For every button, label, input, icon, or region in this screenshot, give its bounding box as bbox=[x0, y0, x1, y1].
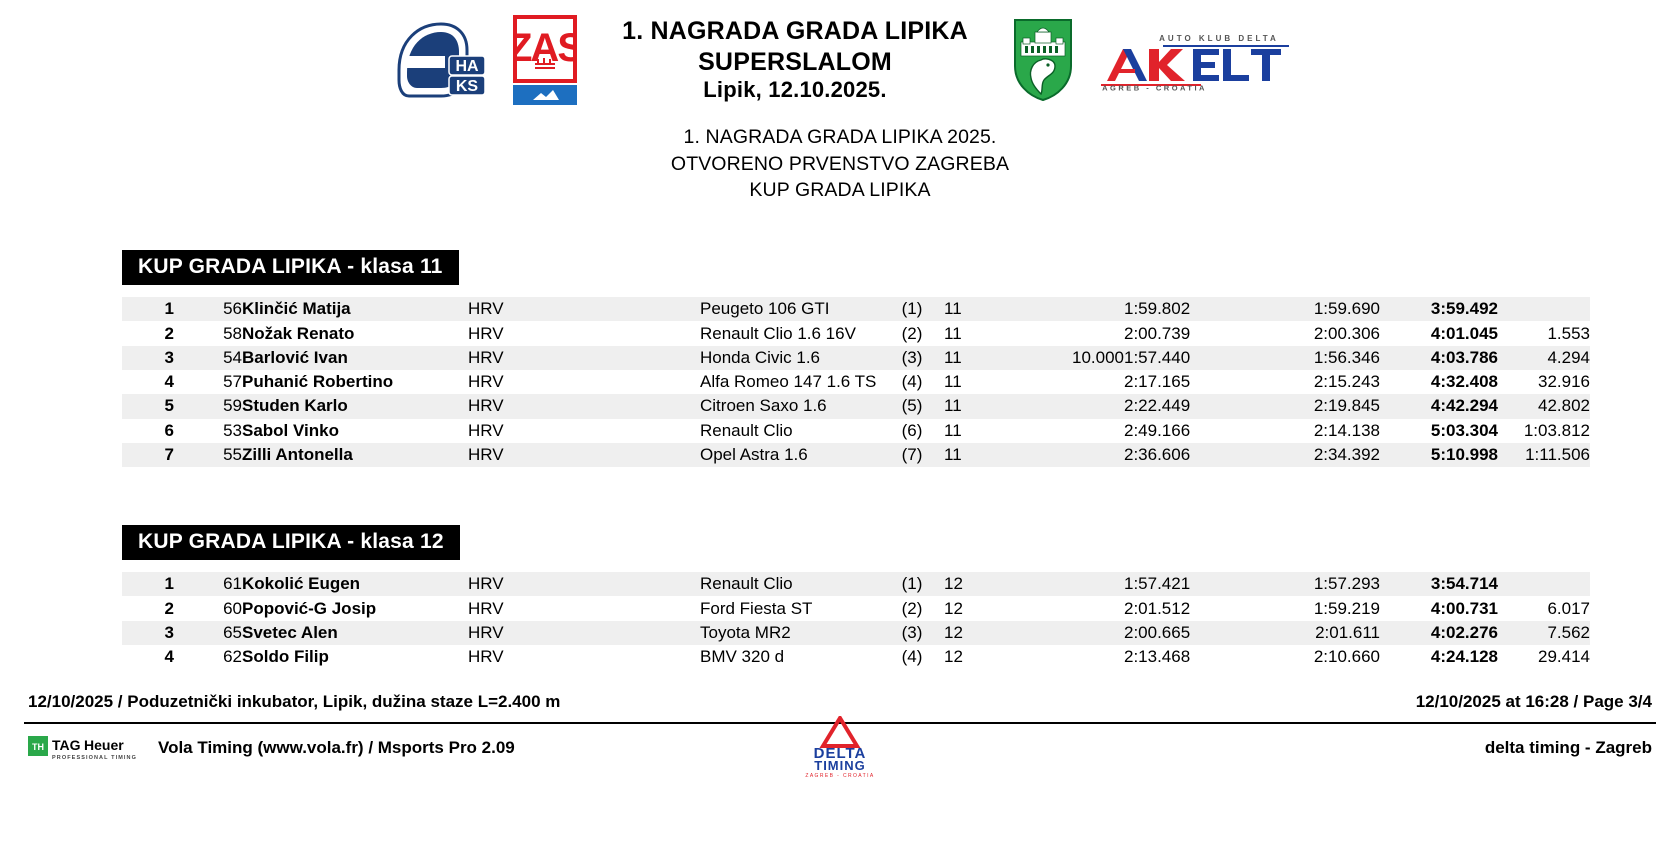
cell-nationality: HRV bbox=[468, 346, 700, 370]
cell-nationality: HRV bbox=[468, 596, 700, 620]
cell-total: 4:03.786 bbox=[1380, 346, 1498, 370]
cell-run2: 2:15.243 bbox=[1276, 370, 1380, 394]
cell-total: 3:54.714 bbox=[1380, 572, 1498, 596]
cell-number: 62 bbox=[174, 645, 242, 669]
cell-rank: 2 bbox=[122, 596, 174, 620]
title-line-1: 1. NAGRADA GRADA LIPIKA bbox=[617, 16, 973, 47]
cell-car: Renault Clio bbox=[700, 419, 880, 443]
cell-total: 4:42.294 bbox=[1380, 394, 1498, 418]
cell-group: (2) bbox=[880, 596, 944, 620]
cell-car: Renault Clio bbox=[700, 572, 880, 596]
cell-run1: 2:22.449 bbox=[1124, 394, 1276, 418]
cell-car: Ford Fiesta ST bbox=[700, 596, 880, 620]
cell-run2: 2:19.845 bbox=[1276, 394, 1380, 418]
cell-run2: 1:56.346 bbox=[1276, 346, 1380, 370]
lipik-coat-of-arms bbox=[973, 18, 1101, 102]
class-title-bar-12: KUP GRADA LIPIKA - klasa 12 bbox=[122, 525, 460, 560]
table-row: 462Soldo FilipHRVBMV 320 d(4)122:13.4682… bbox=[122, 645, 1590, 669]
cell-run1: 1:57.440 bbox=[1124, 346, 1276, 370]
cell-run1: 1:59.802 bbox=[1124, 297, 1276, 321]
table-row: 161Kokolić EugenHRVRenault Clio(1)121:57… bbox=[122, 572, 1590, 596]
cell-number: 60 bbox=[174, 596, 242, 620]
cell-run2: 1:59.690 bbox=[1276, 297, 1380, 321]
table-row: 653Sabol VinkoHRVRenault Clio(6)112:49.1… bbox=[122, 419, 1590, 443]
cell-run2: 2:00.306 bbox=[1276, 321, 1380, 345]
cell-car: Honda Civic 1.6 bbox=[700, 346, 880, 370]
cell-car: BMV 320 d bbox=[700, 645, 880, 669]
cell-run2: 2:14.138 bbox=[1276, 419, 1380, 443]
cell-run1: 2:17.165 bbox=[1124, 370, 1276, 394]
cell-rank: 4 bbox=[122, 645, 174, 669]
cell-number: 53 bbox=[174, 419, 242, 443]
cell-run1: 2:13.468 bbox=[1124, 645, 1276, 669]
cell-gap: 6.017 bbox=[1498, 596, 1590, 620]
results-table-klasa-11: 156Klinčić MatijaHRVPeugeto 106 GTI(1)11… bbox=[122, 297, 1590, 467]
cell-gap: 29.414 bbox=[1498, 645, 1590, 669]
tagheuer-subtitle: PROFESSIONAL TIMING bbox=[52, 755, 137, 761]
tagheuer-logo: TH TAG Heuer PROFESSIONAL TIMING bbox=[28, 733, 146, 763]
table-row: 258Nožak RenatoHRVRenault Clio 1.6 16V(2… bbox=[122, 321, 1590, 345]
cell-total: 5:10.998 bbox=[1380, 443, 1498, 467]
cell-total: 4:02.276 bbox=[1380, 621, 1498, 645]
cell-driver-name: Sabol Vinko bbox=[242, 419, 468, 443]
cell-rank: 3 bbox=[122, 346, 174, 370]
cell-run2: 1:59.219 bbox=[1276, 596, 1380, 620]
footer-software-credit: Vola Timing (www.vola.fr) / Msports Pro … bbox=[158, 738, 515, 758]
cell-class: 12 bbox=[944, 645, 1014, 669]
cell-total: 4:32.408 bbox=[1380, 370, 1498, 394]
subtitle-line-1: 1. NAGRADA GRADA LIPIKA 2025. bbox=[0, 124, 1680, 151]
cell-rank: 4 bbox=[122, 370, 174, 394]
cell-group: (7) bbox=[880, 443, 944, 467]
cell-driver-name: Studen Karlo bbox=[242, 394, 468, 418]
cell-nationality: HRV bbox=[468, 394, 700, 418]
title-line-3: Lipik, 12.10.2025. bbox=[617, 77, 973, 104]
cell-gap: 4.294 bbox=[1498, 346, 1590, 370]
cell-nationality: HRV bbox=[468, 321, 700, 345]
cell-penalty bbox=[1014, 621, 1124, 645]
cell-gap: 32.916 bbox=[1498, 370, 1590, 394]
cell-group: (3) bbox=[880, 621, 944, 645]
cell-driver-name: Soldo Filip bbox=[242, 645, 468, 669]
cell-penalty bbox=[1014, 297, 1124, 321]
results-section-klasa-11: KUP GRADA LIPIKA - klasa 11 156Klinčić M… bbox=[122, 250, 1448, 467]
cell-nationality: HRV bbox=[468, 572, 700, 596]
cell-car: Peugeto 106 GTI bbox=[700, 297, 880, 321]
cell-total: 5:03.304 bbox=[1380, 419, 1498, 443]
cell-penalty bbox=[1014, 419, 1124, 443]
cell-total: 4:00.731 bbox=[1380, 596, 1498, 620]
cell-class: 11 bbox=[944, 394, 1014, 418]
cell-rank: 7 bbox=[122, 443, 174, 467]
cell-run1: 2:00.739 bbox=[1124, 321, 1276, 345]
cell-car: Opel Astra 1.6 bbox=[700, 443, 880, 467]
cell-penalty bbox=[1014, 394, 1124, 418]
cell-run2: 2:01.611 bbox=[1276, 621, 1380, 645]
footer-org-credit: delta timing - Zagreb bbox=[1485, 738, 1652, 758]
cell-number: 55 bbox=[174, 443, 242, 467]
cell-nationality: HRV bbox=[468, 621, 700, 645]
cell-run1: 2:01.512 bbox=[1124, 596, 1276, 620]
cell-penalty bbox=[1014, 321, 1124, 345]
cell-gap: 1:11.506 bbox=[1498, 443, 1590, 467]
cell-rank: 3 bbox=[122, 621, 174, 645]
page-header: HA KS ZAS 1. NAG bbox=[0, 0, 1680, 106]
cell-nationality: HRV bbox=[468, 419, 700, 443]
cell-total: 3:59.492 bbox=[1380, 297, 1498, 321]
cell-nationality: HRV bbox=[468, 443, 700, 467]
cell-group: (4) bbox=[880, 645, 944, 669]
cell-gap: 42.802 bbox=[1498, 394, 1590, 418]
cell-driver-name: Popović-G Josip bbox=[242, 596, 468, 620]
cell-group: (5) bbox=[880, 394, 944, 418]
cell-rank: 1 bbox=[122, 572, 174, 596]
delta-timing-line-3: ZAGREB - CROATIA bbox=[805, 773, 874, 778]
event-title: 1. NAGRADA GRADA LIPIKA SUPERSLALOM Lipi… bbox=[617, 16, 973, 104]
event-subtitle: 1. NAGRADA GRADA LIPIKA 2025. OTVORENO P… bbox=[0, 124, 1680, 204]
cell-rank: 2 bbox=[122, 321, 174, 345]
delta-bottom-text: ZAGREB - CROATIA bbox=[1101, 84, 1207, 92]
ak-delta-logo: AUTO KLUB DELTA ZAGREB - CROATIA bbox=[1101, 29, 1289, 91]
cell-group: (4) bbox=[880, 370, 944, 394]
cell-class: 12 bbox=[944, 596, 1014, 620]
results-table-klasa-12: 161Kokolić EugenHRVRenault Clio(1)121:57… bbox=[122, 572, 1590, 669]
cell-penalty: 10.000 bbox=[1014, 346, 1124, 370]
cell-car: Toyota MR2 bbox=[700, 621, 880, 645]
table-row: 755Zilli AntonellaHRVOpel Astra 1.6(7)11… bbox=[122, 443, 1590, 467]
results-page: HA KS ZAS 1. NAG bbox=[0, 0, 1680, 857]
cell-car: Alfa Romeo 147 1.6 TS bbox=[700, 370, 880, 394]
cell-nationality: HRV bbox=[468, 370, 700, 394]
cell-gap bbox=[1498, 572, 1590, 596]
cell-gap bbox=[1498, 297, 1590, 321]
footer-venue-info: 12/10/2025 / Poduzetnički inkubator, Lip… bbox=[28, 692, 560, 712]
cell-rank: 5 bbox=[122, 394, 174, 418]
cell-group: (1) bbox=[880, 297, 944, 321]
cell-gap: 1.553 bbox=[1498, 321, 1590, 345]
cell-run2: 2:10.660 bbox=[1276, 645, 1380, 669]
tagheuer-tag-mark: TH bbox=[32, 742, 44, 752]
delta-top-text: AUTO KLUB DELTA bbox=[1159, 34, 1279, 43]
cell-driver-name: Kokolić Eugen bbox=[242, 572, 468, 596]
delta-timing-line-2: TIMING bbox=[814, 758, 866, 773]
cell-number: 61 bbox=[174, 572, 242, 596]
table-row: 457Puhanić RobertinoHRVAlfa Romeo 147 1.… bbox=[122, 370, 1590, 394]
tagheuer-tag-text: TAG bbox=[52, 737, 81, 753]
cell-penalty bbox=[1014, 572, 1124, 596]
cell-penalty bbox=[1014, 443, 1124, 467]
footer-top-row: 12/10/2025 / Poduzetnički inkubator, Lip… bbox=[28, 692, 1652, 712]
subtitle-line-3: KUP GRADA LIPIKA bbox=[0, 177, 1680, 204]
cell-driver-name: Zilli Antonella bbox=[242, 443, 468, 467]
table-row: 260Popović-G JosipHRVFord Fiesta ST(2)12… bbox=[122, 596, 1590, 620]
cell-number: 59 bbox=[174, 394, 242, 418]
zas-logo: ZAS bbox=[513, 15, 617, 105]
subtitle-line-2: OTVORENO PRVENSTVO ZAGREBA bbox=[0, 151, 1680, 178]
cell-driver-name: Barlović Ivan bbox=[242, 346, 468, 370]
cell-driver-name: Klinčić Matija bbox=[242, 297, 468, 321]
table-row: 365Svetec AlenHRVToyota MR2(3)122:00.665… bbox=[122, 621, 1590, 645]
cell-number: 56 bbox=[174, 297, 242, 321]
cell-driver-name: Svetec Alen bbox=[242, 621, 468, 645]
cell-class: 11 bbox=[944, 321, 1014, 345]
cell-class: 11 bbox=[944, 297, 1014, 321]
cell-class: 11 bbox=[944, 346, 1014, 370]
cell-gap: 7.562 bbox=[1498, 621, 1590, 645]
cell-rank: 1 bbox=[122, 297, 174, 321]
table-row: 354Barlović IvanHRVHonda Civic 1.6(3)111… bbox=[122, 346, 1590, 370]
cell-nationality: HRV bbox=[468, 297, 700, 321]
cell-run2: 1:57.293 bbox=[1276, 572, 1380, 596]
cell-class: 11 bbox=[944, 419, 1014, 443]
table-row: 559Studen KarloHRVCitroen Saxo 1.6(5)112… bbox=[122, 394, 1590, 418]
cell-penalty bbox=[1014, 645, 1124, 669]
cell-number: 65 bbox=[174, 621, 242, 645]
class-title-bar-11: KUP GRADA LIPIKA - klasa 11 bbox=[122, 250, 459, 285]
cell-car: Citroen Saxo 1.6 bbox=[700, 394, 880, 418]
cell-car: Renault Clio 1.6 16V bbox=[700, 321, 880, 345]
cell-run1: 2:36.606 bbox=[1124, 443, 1276, 467]
cell-number: 57 bbox=[174, 370, 242, 394]
cell-rank: 6 bbox=[122, 419, 174, 443]
cell-penalty bbox=[1014, 596, 1124, 620]
cell-class: 11 bbox=[944, 370, 1014, 394]
cell-run1: 2:49.166 bbox=[1124, 419, 1276, 443]
cell-run2: 2:34.392 bbox=[1276, 443, 1380, 467]
cell-group: (1) bbox=[880, 572, 944, 596]
cell-run1: 1:57.421 bbox=[1124, 572, 1276, 596]
haks-ha-text: HA bbox=[455, 58, 479, 75]
title-line-2: SUPERSLALOM bbox=[617, 47, 973, 78]
cell-group: (6) bbox=[880, 419, 944, 443]
delta-timing-logo: DELTA TIMING ZAGREB - CROATIA bbox=[785, 716, 895, 778]
cell-penalty bbox=[1014, 370, 1124, 394]
cell-class: 12 bbox=[944, 621, 1014, 645]
cell-group: (2) bbox=[880, 321, 944, 345]
table-row: 156Klinčić MatijaHRVPeugeto 106 GTI(1)11… bbox=[122, 297, 1590, 321]
cell-total: 4:24.128 bbox=[1380, 645, 1498, 669]
cell-nationality: HRV bbox=[468, 645, 700, 669]
cell-number: 58 bbox=[174, 321, 242, 345]
tagheuer-heuer-text: Heuer bbox=[84, 737, 124, 753]
haks-ks-text: KS bbox=[456, 78, 479, 95]
cell-group: (3) bbox=[880, 346, 944, 370]
cell-class: 12 bbox=[944, 572, 1014, 596]
footer-timestamp-page: 12/10/2025 at 16:28 / Page 3/4 bbox=[1416, 692, 1652, 712]
page-left-edge bbox=[0, 0, 3, 857]
cell-gap: 1:03.812 bbox=[1498, 419, 1590, 443]
haks-logo: HA KS bbox=[391, 18, 513, 102]
cell-run1: 2:00.665 bbox=[1124, 621, 1276, 645]
cell-number: 54 bbox=[174, 346, 242, 370]
cell-driver-name: Nožak Renato bbox=[242, 321, 468, 345]
results-section-klasa-12: KUP GRADA LIPIKA - klasa 12 161Kokolić E… bbox=[122, 525, 1448, 669]
cell-total: 4:01.045 bbox=[1380, 321, 1498, 345]
cell-class: 11 bbox=[944, 443, 1014, 467]
cell-driver-name: Puhanić Robertino bbox=[242, 370, 468, 394]
